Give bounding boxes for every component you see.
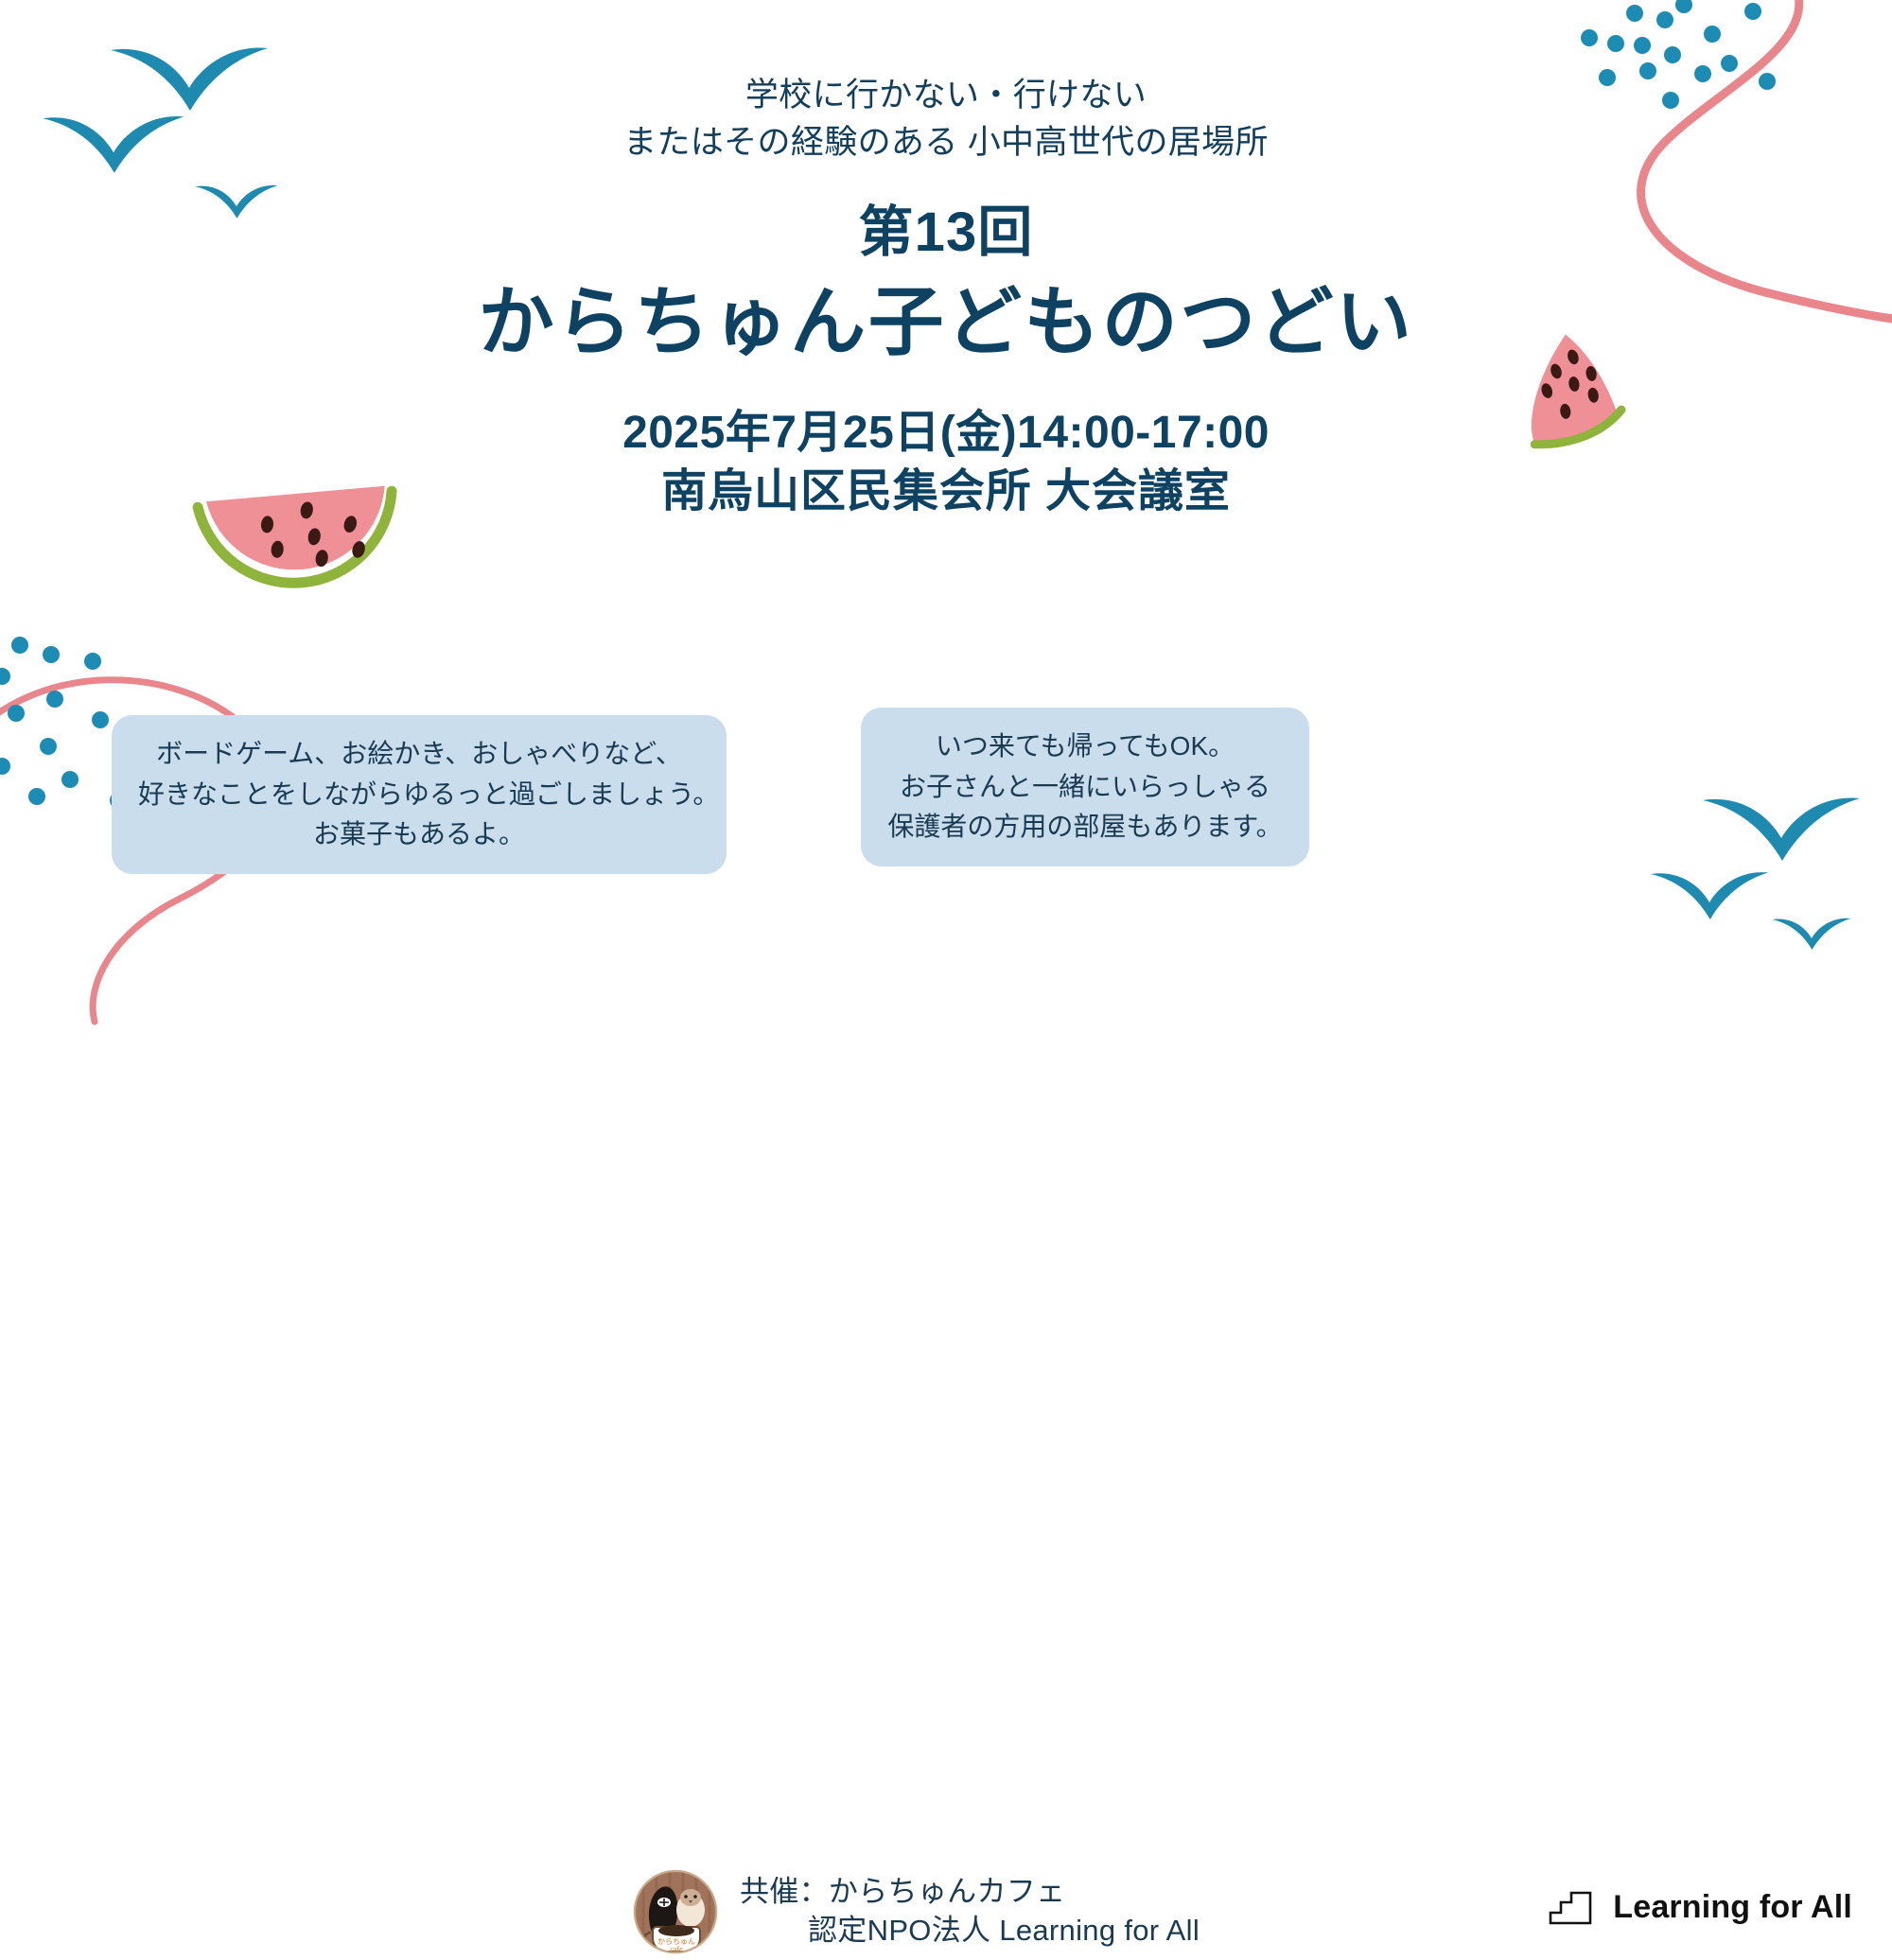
bubble-left-line-2: 好きなことをしながらゆるっと過ごしましょう。 <box>138 775 700 815</box>
lead-line-1: 学校に行かない・行けない <box>623 72 1269 119</box>
cohost-line-2: 認定NPO法人 Learning for All <box>740 1912 1200 1951</box>
bubble-right-line-3: 保護者の方用の部屋もあります。 <box>887 807 1283 848</box>
edition-number: 第13回 <box>858 205 1033 260</box>
partner-name: Learning for All <box>1613 1889 1852 1926</box>
cohost-text: 共催：からちゅんカフェ 認定NPO法人 Learning for All <box>740 1873 1200 1951</box>
bubble-left-line-1: ボードゲーム、お絵かき、おしゃべりなど、 <box>138 734 700 775</box>
bubble-right-line-2: お子さんと一緒にいらっしゃる <box>887 767 1283 808</box>
event-details: 2025年7月25日(金)14:00-17:00 南烏山区民集会所 大会議室 <box>622 362 1270 520</box>
poster-footer: からちゅん cafe 共催：からちゅんカフェ 認定NPO法人 Learning … <box>0 919 1892 1051</box>
poster-canvas: 学校に行かない・行けない またはその経験のある 小中高世代の居場所 第13回 か… <box>0 0 1892 1051</box>
bird-bottom-right-1-icon <box>1701 793 1862 868</box>
stairs-mark-icon <box>1549 1891 1592 1925</box>
event-venue: 南烏山区民集会所 大会議室 <box>622 463 1270 520</box>
bubble-right-line-1: いつ来ても帰ってもOK。 <box>887 726 1283 767</box>
bubble-left-line-3: お菓子もあるよ。 <box>138 814 700 855</box>
cohost-block: からちゅん cafe 共催：からちゅんカフェ 認定NPO法人 Learning … <box>632 1868 1200 1955</box>
lead-line-2: またはその経験のある 小中高世代の居場所 <box>623 119 1269 166</box>
lead-text: 学校に行かない・行けない またはその経験のある 小中高世代の居場所 <box>623 72 1269 166</box>
partner-logo-block: Learning for All <box>1549 1889 1852 1926</box>
bird-bottom-right-2-icon <box>1648 868 1771 925</box>
poster-content: 学校に行かない・行けない またはその経験のある 小中高世代の居場所 第13回 か… <box>0 0 1892 520</box>
cohost-line-1: 共催：からちゅんカフェ <box>740 1873 1200 1912</box>
info-bubble-activities: ボードゲーム、お絵かき、おしゃべりなど、 好きなことをしながらゆるっと過ごしまし… <box>112 715 727 874</box>
page-title: からちゅん子どものつどい <box>479 283 1414 362</box>
info-bubble-access: いつ来ても帰ってもOK。 お子さんと一緒にいらっしゃる 保護者の方用の部屋もあり… <box>861 708 1309 866</box>
karachun-cafe-logo: からちゅん cafe <box>632 1868 719 1955</box>
event-datetime: 2025年7月25日(金)14:00-17:00 <box>622 404 1270 462</box>
